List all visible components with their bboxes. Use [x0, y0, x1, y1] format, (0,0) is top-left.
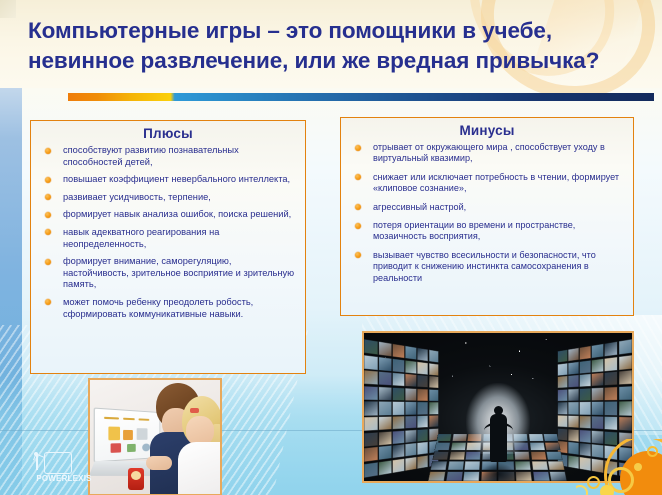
screen-tile	[393, 358, 405, 372]
screen-tile	[405, 402, 416, 415]
screen-tile	[448, 461, 465, 470]
screen-tile	[592, 373, 604, 387]
screen-tile	[604, 341, 617, 356]
screen-tile	[393, 416, 405, 429]
cons-list-item: снижает или исключает потребность в чтен…	[347, 172, 625, 195]
screen-tile	[364, 432, 378, 447]
screen-tile	[364, 417, 378, 431]
screen-tile	[393, 387, 405, 400]
cons-list-item: агрессивный настрой,	[347, 202, 625, 213]
bullet-icon	[45, 229, 51, 235]
pros-list-item-label: формирует навык анализа ошибок, поиска р…	[63, 209, 291, 219]
presentation-slide: Компьютерные игры – это помощники в учеб…	[0, 0, 662, 495]
screen-tile	[579, 388, 590, 401]
screen-tile	[604, 416, 617, 430]
pros-list-item-label: формирует внимание, саморегуляцию, насто…	[63, 256, 294, 289]
pros-list-item: повышает коэффициент невербального интел…	[37, 174, 297, 186]
cons-heading: Минусы	[341, 123, 633, 138]
screen-tile	[379, 371, 392, 385]
figure-shadow	[481, 463, 515, 483]
screen-tile	[618, 355, 632, 370]
screen-tile	[364, 370, 378, 385]
screen-tile	[579, 416, 590, 429]
screen-tile	[533, 471, 550, 481]
pros-list-item: может помочь ребенку преодолеть робость,…	[37, 297, 297, 320]
screen-tile	[568, 402, 578, 414]
screen-tile	[592, 402, 604, 415]
screen-wall-left	[364, 333, 439, 481]
screen-tile	[604, 402, 617, 416]
screen-tile	[515, 461, 531, 470]
screen-tile	[557, 415, 567, 427]
screen-tile	[592, 387, 604, 400]
presenter-head-icon	[34, 452, 38, 456]
slide-header: Компьютерные игры – это помощники в учеб…	[0, 0, 662, 88]
screen-tile	[531, 451, 547, 460]
screen-tile	[592, 344, 604, 359]
corner-circles-decoration	[576, 439, 662, 495]
screen-tile	[379, 460, 392, 475]
screen-tile	[379, 341, 392, 356]
cons-list-item-label: отрывает от окружающего мира , способств…	[373, 142, 605, 163]
screen-tile	[379, 387, 392, 401]
screen-tile	[579, 374, 590, 387]
screen-tile	[516, 471, 533, 481]
screen-tile	[405, 429, 416, 442]
screen-tile	[418, 442, 428, 455]
screen-tile	[379, 356, 392, 371]
hair-clip	[190, 408, 199, 413]
screen-tile	[429, 415, 439, 427]
screen-tile	[433, 451, 449, 460]
screen-tile	[405, 360, 416, 374]
circle-ring-tiny	[576, 485, 588, 495]
screen-tile	[418, 455, 428, 469]
screen-tile	[418, 348, 428, 362]
screen-tile	[545, 442, 561, 450]
screen-tile	[568, 348, 578, 362]
child-hand	[146, 456, 172, 470]
screen-tile	[532, 461, 549, 470]
screen-tile	[530, 442, 545, 450]
bullet-icon	[45, 148, 51, 154]
logo-text: POWERLEXIS	[30, 474, 98, 483]
red-toy	[128, 468, 144, 490]
screen-tile	[550, 471, 568, 481]
screen-tile	[429, 389, 439, 401]
screen-tile	[393, 373, 405, 387]
circle-solid-small	[600, 485, 614, 495]
screen-tile	[429, 363, 439, 376]
screen-tile	[393, 344, 405, 359]
pros-heading: Плюсы	[31, 126, 305, 141]
cons-list-item: отрывает от окружающего мира , способств…	[347, 142, 625, 165]
screen-tile	[547, 451, 563, 460]
screen-tile	[618, 339, 632, 355]
pros-panel: Плюсы способствуют развитию познавательн…	[30, 120, 306, 374]
screen-tile	[618, 401, 632, 415]
screen-tile	[379, 402, 392, 416]
screen-tile	[557, 376, 567, 388]
pros-list-item-label: повышает коэффициент невербального интел…	[63, 174, 290, 184]
screen-tile	[405, 416, 416, 429]
pros-list-item-label: развивает усидчивость, терпение,	[63, 192, 211, 202]
screen-tile	[544, 434, 559, 442]
screen-tile	[418, 429, 428, 442]
screen-tile	[568, 388, 578, 400]
screen-tile	[618, 370, 632, 385]
bullet-icon	[45, 299, 51, 305]
screen-tile	[364, 355, 378, 370]
screen-tile	[579, 360, 590, 374]
pros-list-item-label: может помочь ребенку преодолеть робость,…	[63, 297, 253, 319]
circle-dot-a	[634, 463, 642, 471]
pros-list-item: формирует навык анализа ошибок, поиска р…	[37, 209, 297, 221]
screen-tile	[405, 443, 416, 457]
screen-tile	[446, 471, 463, 481]
screen-tile	[557, 350, 567, 363]
circle-dot-b	[647, 446, 658, 457]
screen-tile	[364, 386, 378, 400]
bullet-icon	[45, 259, 51, 265]
screen-tile	[604, 371, 617, 385]
screen-tile	[405, 457, 416, 471]
cons-list-item-label: снижает или исключает потребность в чтен…	[373, 172, 619, 193]
screen-tile	[435, 442, 451, 450]
screen-tile	[418, 415, 428, 428]
pros-list-item: навык адекватного реагирования на неопре…	[37, 227, 297, 250]
screen-tile	[429, 376, 439, 388]
screen-tile	[464, 471, 481, 481]
bullet-icon	[355, 204, 361, 210]
cons-list: отрывает от окружающего мира , способств…	[341, 142, 633, 284]
pros-list-item-label: навык адекватного реагирования на неопре…	[63, 227, 219, 249]
screen-tile	[418, 361, 428, 374]
child-body-right	[178, 442, 222, 495]
header-divider-bar	[68, 93, 654, 101]
bullet-icon	[355, 174, 361, 180]
bullet-icon	[45, 212, 51, 218]
circle-ring-small	[587, 476, 600, 489]
screen-tile	[604, 387, 617, 401]
screen-tile	[393, 458, 405, 473]
screen-tile	[529, 434, 544, 442]
screen-tile	[579, 402, 590, 415]
screen-tile	[364, 447, 378, 462]
screen-tile	[418, 375, 428, 388]
pros-list-item: способствуют развитию познавательных спо…	[37, 145, 297, 168]
cons-list-item-label: вызывает чувство всесильности и безопасн…	[373, 250, 596, 283]
screen-tile	[557, 389, 567, 401]
screen-tile	[405, 346, 416, 360]
cons-panel: Минусы отрывает от окружающего мира , сп…	[340, 117, 634, 316]
screen-tile	[449, 451, 465, 460]
screen-tile	[418, 388, 428, 400]
screen-tile	[592, 358, 604, 372]
bullet-icon	[355, 145, 361, 151]
screen-tile	[451, 442, 466, 450]
bullet-icon	[45, 177, 51, 183]
cons-list-item-label: агрессивный настрой,	[373, 202, 466, 212]
powerlexis-logo: POWERLEXIS	[30, 452, 98, 490]
screen-tile	[618, 386, 632, 400]
cons-list-item: потеря ориентации во времени и пространс…	[347, 220, 625, 243]
screen-tile	[604, 356, 617, 371]
screen-tile	[579, 346, 590, 360]
screen-tile	[405, 374, 416, 387]
cons-list-item-label: потеря ориентации во времени и пространс…	[373, 220, 575, 241]
screen-tile	[568, 375, 578, 388]
screen-tile	[465, 461, 481, 470]
screen-tile	[557, 402, 567, 414]
screen-tile	[437, 434, 452, 442]
screen-tile	[393, 402, 405, 415]
screen-tile	[379, 431, 392, 445]
header-corner-accent	[0, 0, 16, 18]
screen-tile	[429, 402, 439, 414]
screen-tile	[568, 361, 578, 374]
bullet-icon	[355, 223, 361, 229]
person-silhouette	[490, 414, 507, 462]
screen-tile	[431, 461, 448, 470]
screen-tile	[429, 350, 439, 363]
pros-list: способствуют развитию познавательных спо…	[31, 145, 305, 320]
screen-tile	[568, 415, 578, 428]
bullet-icon	[45, 194, 51, 200]
presentation-board-icon	[44, 452, 72, 474]
screen-tile	[618, 417, 632, 431]
bullet-icon	[355, 252, 361, 258]
pros-list-item: формирует внимание, саморегуляцию, насто…	[37, 256, 297, 291]
screen-tile	[364, 339, 378, 355]
cons-list-item: вызывает чувство всесильности и безопасн…	[347, 250, 625, 284]
screen-tile	[557, 428, 567, 441]
screen-tile	[364, 462, 378, 478]
screen-tile	[592, 416, 604, 429]
screen-tile	[557, 363, 567, 376]
screen-tile	[405, 388, 416, 401]
screen-tile	[418, 402, 428, 414]
page-title: Компьютерные игры – это помощники в учеб…	[28, 16, 646, 76]
pros-list-item-label: способствуют развитию познавательных спо…	[63, 145, 239, 167]
children-at-laptop-photo	[88, 378, 222, 495]
screen-tile	[393, 444, 405, 458]
screen-tile	[364, 401, 378, 415]
screen-tile	[379, 416, 392, 430]
pros-list-item: развивает усидчивость, терпение,	[37, 192, 297, 204]
screen-tile	[428, 471, 446, 481]
screen-tile	[393, 430, 405, 444]
screen-tile	[548, 461, 565, 470]
screen-tile	[379, 446, 392, 461]
